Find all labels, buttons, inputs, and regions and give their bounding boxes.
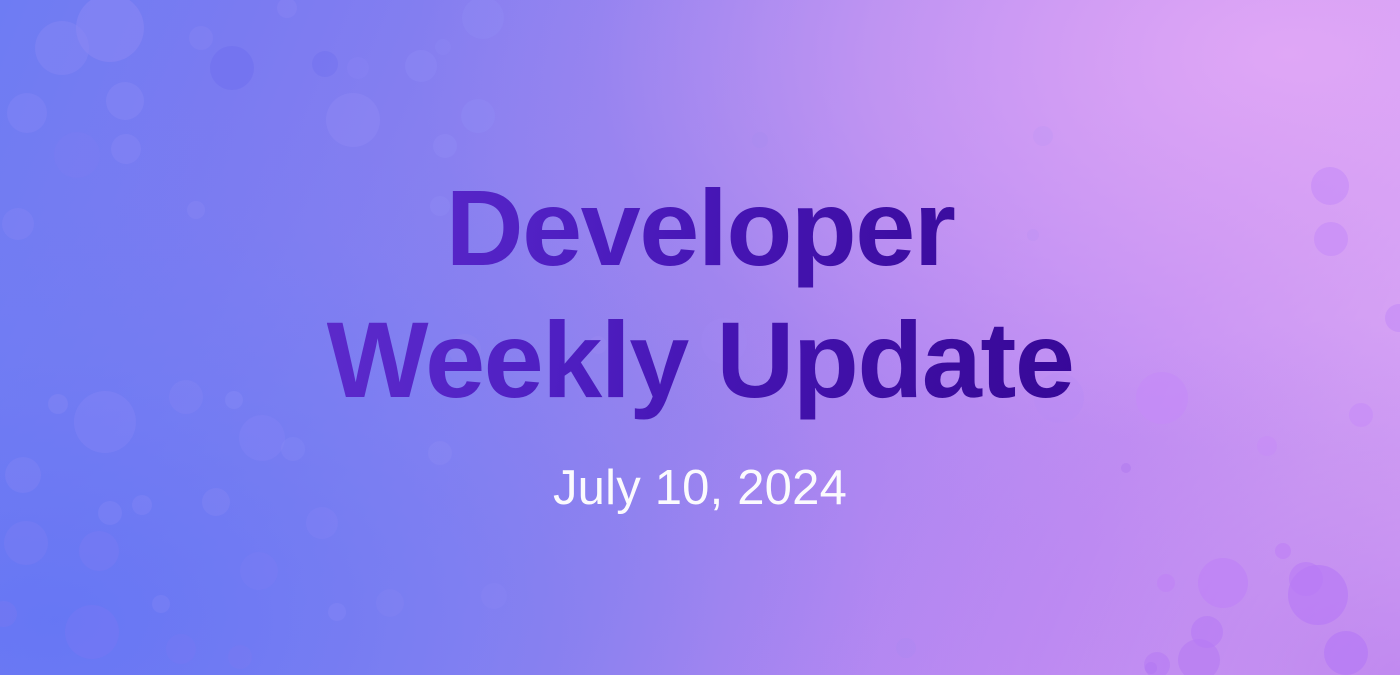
- headline-line-1: Developer: [327, 162, 1074, 294]
- page-title: Developer Weekly Update: [327, 162, 1074, 430]
- headline-line-2: Weekly Update: [327, 294, 1074, 426]
- banner-content: Developer Weekly Update July 10, 2024: [0, 0, 1400, 675]
- subtitle-date: July 10, 2024: [553, 464, 847, 513]
- developer-weekly-update-banner: Developer Weekly Update July 10, 2024: [0, 0, 1400, 675]
